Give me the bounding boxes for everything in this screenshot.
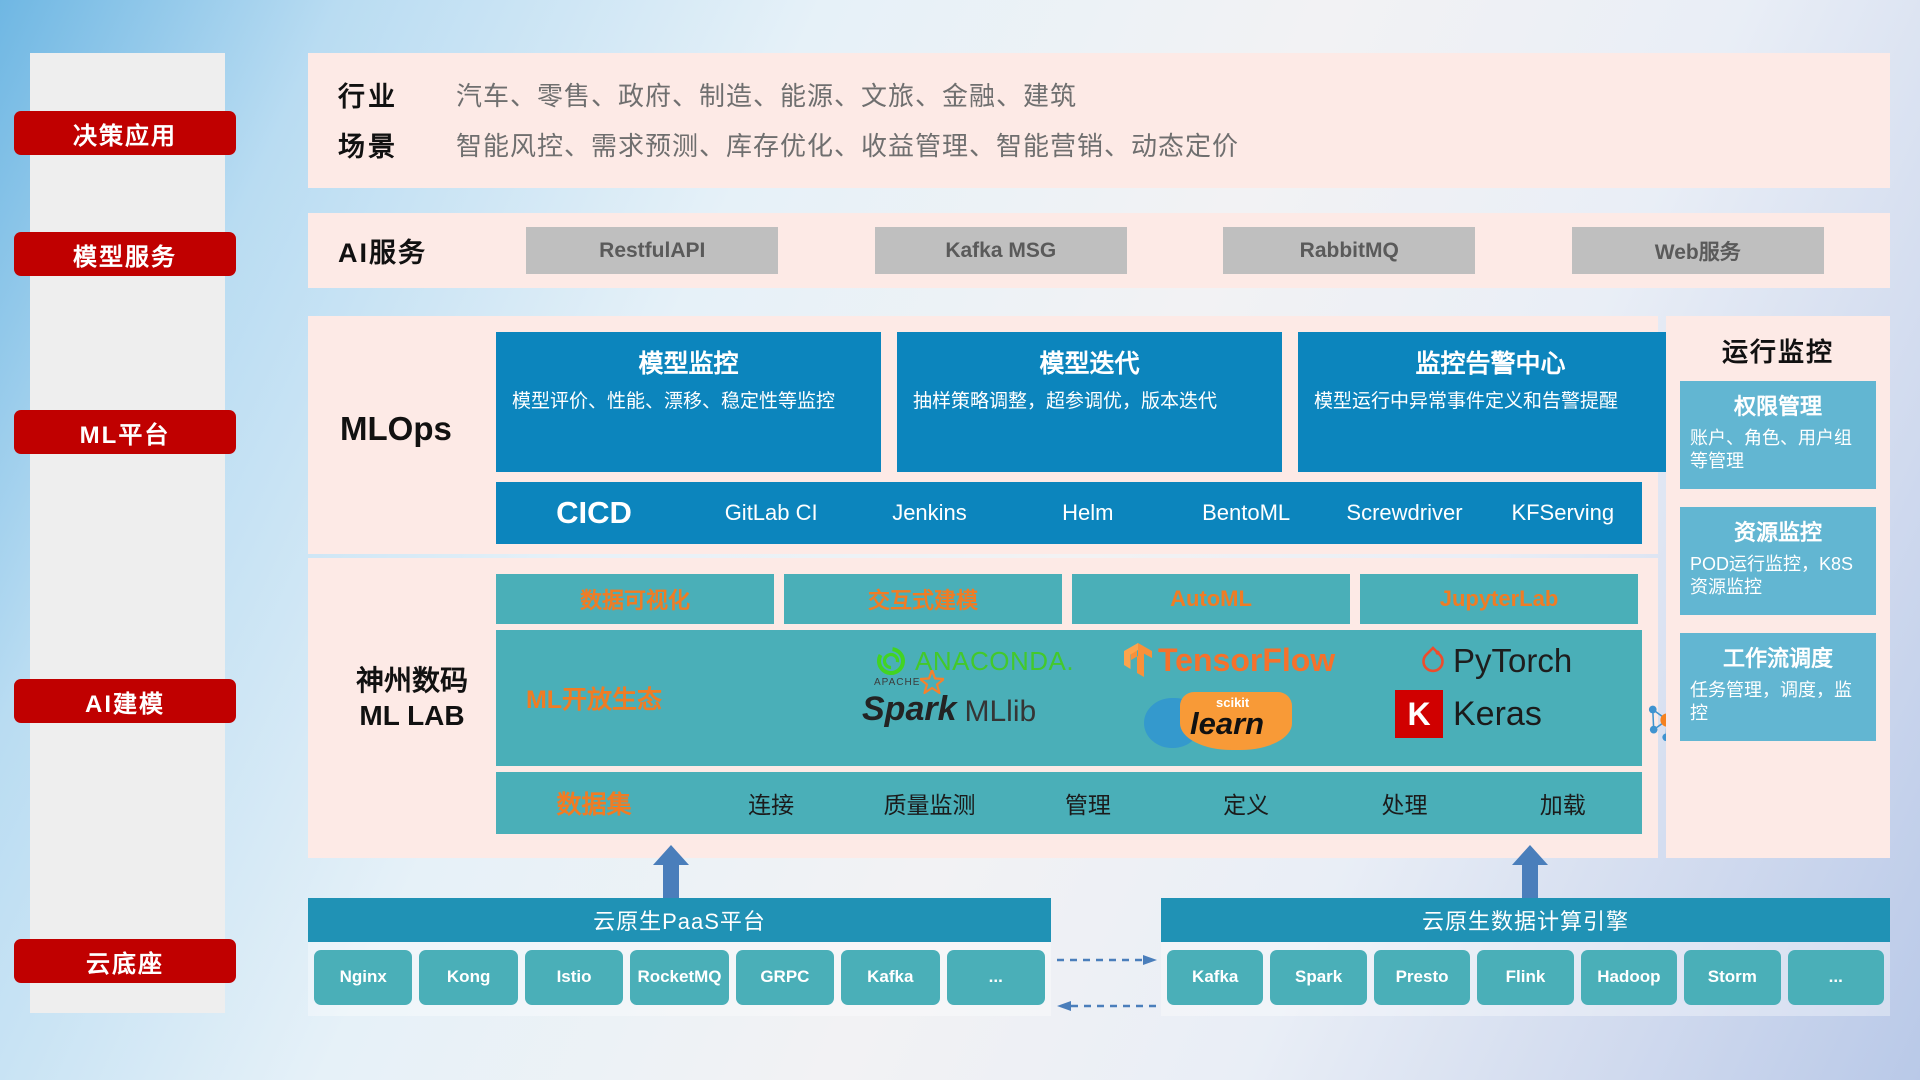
keras-mark-letter: K — [1407, 696, 1430, 733]
cloud-paas-chip-group: Nginx Kong Istio RocketMQ GRPC Kafka ... — [308, 942, 1051, 1013]
card-desc: POD运行监控，K8S资源监控 — [1690, 553, 1866, 600]
cloud-chip-nginx[interactable]: Nginx — [314, 950, 412, 1005]
mlops-card-model-monitoring[interactable]: 模型监控 模型评价、性能、漂移、稳定性等监控 — [496, 332, 881, 472]
cicd-item-gitlab-ci[interactable]: GitLab CI — [692, 501, 850, 524]
ops-card-permission-management[interactable]: 权限管理 账户、角色、用户组等管理 — [1680, 381, 1876, 489]
tensorflow-wordmark: TensorFlow — [1158, 642, 1335, 679]
pytorch-wordmark: PyTorch — [1453, 642, 1572, 680]
ops-card-workflow-scheduling[interactable]: 工作流调度 任务管理，调度，监控 — [1680, 633, 1876, 741]
scenario-row: 场景 智能风控、需求预测、库存优化、收益管理、智能营销、动态定价 — [338, 119, 1890, 169]
industry-scenario-band: 行业 汽车、零售、政府、制造、能源、文旅、金融、建筑 场景 智能风控、需求预测、… — [308, 53, 1890, 188]
mlops-band: MLOps 模型监控 模型评价、性能、漂移、稳定性等监控 模型迭代 抽样策略调整… — [308, 316, 1658, 554]
ai-service-chip-rabbitmq[interactable]: RabbitMQ — [1223, 227, 1475, 274]
card-desc: 模型运行中异常事件定义和告警提醒 — [1314, 389, 1667, 415]
mlops-card-alert-center[interactable]: 监控告警中心 模型运行中异常事件定义和告警提醒 — [1298, 332, 1683, 472]
scenario-values: 智能风控、需求预测、库存优化、收益管理、智能营销、动态定价 — [456, 126, 1239, 163]
ml-lab-band: 神州数码 ML LAB 数据可视化 交互式建模 AutoML JupyterLa… — [308, 558, 1658, 858]
dataset-item-definition[interactable]: 定义 — [1167, 786, 1325, 820]
dataset-item-connect[interactable]: 连接 — [692, 786, 850, 820]
left-arrow-icon — [1057, 1000, 1157, 1012]
cloud-chip-storm[interactable]: Storm — [1684, 950, 1780, 1005]
dataset-item-quality-monitoring[interactable]: 质量监测 — [850, 786, 1008, 820]
dataset-item-group: 连接 质量监测 管理 定义 处理 加载 — [692, 786, 1642, 820]
cloud-data-engine-block: 云原生数据计算引擎 Kafka Spark Presto Flink Hadoo… — [1161, 898, 1890, 1016]
rail-item-label: 决策应用 — [73, 116, 177, 151]
industry-label: 行业 — [338, 75, 456, 114]
right-arrow-icon — [1057, 954, 1157, 966]
card-title: 监控告警中心 — [1314, 344, 1667, 380]
mllib-wordmark: MLlib — [965, 695, 1037, 729]
rail-item-label: 云底座 — [86, 944, 164, 979]
card-title: 模型监控 — [512, 344, 865, 380]
ml-lab-label-line1: 神州数码 — [328, 663, 496, 698]
keras-wordmark: Keras — [1453, 695, 1542, 734]
ops-monitoring-panel: 运行监控 权限管理 账户、角色、用户组等管理 资源监控 POD运行监控，K8S资… — [1666, 316, 1890, 858]
dataset-row: 数据集 连接 质量监测 管理 定义 处理 加载 — [496, 772, 1642, 834]
cloud-chip-rocketmq[interactable]: RocketMQ — [630, 950, 728, 1005]
tensorflow-logo: TensorFlow — [1122, 641, 1335, 679]
pytorch-mark-icon — [1419, 645, 1447, 677]
cloud-paas-block: 云原生PaaS平台 Nginx Kong Istio RocketMQ GRPC… — [308, 898, 1051, 1016]
ops-card-resource-monitoring[interactable]: 资源监控 POD运行监控，K8S资源监控 — [1680, 507, 1876, 615]
cicd-item-bentoml[interactable]: BentoML — [1167, 501, 1325, 524]
spark-apache-text: APACHE — [874, 677, 920, 688]
cloud-chip-kafka[interactable]: Kafka — [841, 950, 939, 1005]
cicd-item-group: GitLab CI Jenkins Helm BentoML Screwdriv… — [692, 501, 1642, 524]
cicd-bar: CICD GitLab CI Jenkins Helm BentoML Scre… — [496, 482, 1642, 544]
spark-star-icon — [920, 670, 944, 694]
ai-service-chip-kafka-msg[interactable]: Kafka MSG — [875, 227, 1127, 274]
ml-lab-tab-jupyterlab[interactable]: JupyterLab — [1360, 574, 1638, 624]
cicd-item-helm[interactable]: Helm — [1009, 501, 1167, 524]
ai-service-chips: RestfulAPI Kafka MSG RabbitMQ Web服务 — [478, 227, 1890, 274]
ai-service-chip-restfulapi[interactable]: RestfulAPI — [526, 227, 778, 274]
rail-item-label: ML平台 — [80, 415, 171, 450]
ai-service-band: AI服务 RestfulAPI Kafka MSG RabbitMQ Web服务 — [308, 213, 1890, 288]
rail-item-label: 模型服务 — [73, 237, 177, 272]
left-rail — [30, 53, 225, 1013]
cloud-chip-kafka[interactable]: Kafka — [1167, 950, 1263, 1005]
tensorflow-mark-icon — [1122, 641, 1154, 679]
cloud-chip-istio[interactable]: Istio — [525, 950, 623, 1005]
ml-lab-label-line2: ML LAB — [328, 698, 496, 733]
keras-mark-icon: K — [1395, 690, 1443, 738]
industry-values: 汽车、零售、政府、制造、能源、文旅、金融、建筑 — [456, 76, 1077, 113]
ml-open-ecosystem-row: ML开放生态 ANACONDA. TensorFlow — [496, 630, 1642, 766]
dataset-item-loading[interactable]: 加载 — [1484, 786, 1642, 820]
card-title: 资源监控 — [1690, 515, 1866, 547]
learn-text: learn — [1190, 706, 1264, 742]
spark-mark: APACHE Spark — [862, 690, 957, 729]
industry-row: 行业 汽车、零售、政府、制造、能源、文旅、金融、建筑 — [338, 69, 1890, 119]
cicd-item-jenkins[interactable]: Jenkins — [850, 501, 1008, 524]
ai-service-chip-web-service[interactable]: Web服务 — [1572, 227, 1824, 274]
anaconda-logo: ANACONDA. — [874, 644, 1074, 678]
dataset-item-processing[interactable]: 处理 — [1325, 786, 1483, 820]
cloud-chip-presto[interactable]: Presto — [1374, 950, 1470, 1005]
ml-lab-tab-interactive-modeling[interactable]: 交互式建模 — [784, 574, 1062, 624]
cloud-chip-hadoop[interactable]: Hadoop — [1581, 950, 1677, 1005]
cloud-paas-title: 云原生PaaS平台 — [308, 898, 1051, 942]
cloud-chip-spark[interactable]: Spark — [1270, 950, 1366, 1005]
up-arrow-left-icon — [651, 845, 691, 899]
card-title: 模型迭代 — [913, 344, 1266, 380]
cicd-item-screwdriver[interactable]: Screwdriver — [1325, 501, 1483, 524]
cloud-chip-more[interactable]: ... — [1788, 950, 1884, 1005]
spark-wordmark: Spark — [862, 690, 957, 728]
spark-mllib-logo: APACHE Spark MLlib — [862, 690, 1036, 729]
scikit-learn-logo: scikit learn — [1144, 692, 1314, 750]
cloud-chip-flink[interactable]: Flink — [1477, 950, 1573, 1005]
cicd-title: CICD — [496, 495, 692, 531]
card-desc: 模型评价、性能、漂移、稳定性等监控 — [512, 389, 865, 415]
ml-lab-tab-group: 数据可视化 交互式建模 AutoML JupyterLab — [496, 574, 1638, 624]
keras-logo: K Keras — [1395, 690, 1542, 738]
ecosystem-logo-group: ANACONDA. TensorFlow PyTorch — [692, 630, 1642, 766]
rail-item-decision-app[interactable]: 决策应用 — [14, 111, 236, 155]
ml-lab-tab-automl[interactable]: AutoML — [1072, 574, 1350, 624]
rail-item-label: AI建模 — [85, 684, 165, 719]
rail-item-ml-platform[interactable]: ML平台 — [14, 410, 236, 454]
mlops-label: MLOps — [340, 410, 452, 448]
up-arrow-right-icon — [1510, 845, 1550, 899]
pytorch-logo: PyTorch — [1419, 642, 1572, 680]
cloud-data-engine-title: 云原生数据计算引擎 — [1161, 898, 1890, 942]
cloud-chip-more[interactable]: ... — [947, 950, 1045, 1005]
dataset-label: 数据集 — [496, 785, 692, 821]
card-desc: 账户、角色、用户组等管理 — [1690, 427, 1866, 474]
rail-item-ai-modeling[interactable]: AI建模 — [14, 679, 236, 723]
cloud-data-engine-chip-group: Kafka Spark Presto Flink Hadoop Storm ..… — [1161, 942, 1890, 1013]
mlops-card-model-iteration[interactable]: 模型迭代 抽样策略调整，超参调优，版本迭代 — [897, 332, 1282, 472]
card-desc: 抽样策略调整，超参调优，版本迭代 — [913, 389, 1266, 415]
cicd-item-kfserving[interactable]: KFServing — [1484, 501, 1642, 524]
ai-service-label: AI服务 — [338, 231, 478, 270]
ops-panel-title: 运行监控 — [1666, 316, 1890, 381]
card-title: 工作流调度 — [1690, 641, 1866, 673]
scenario-label: 场景 — [338, 125, 456, 164]
rail-item-model-service[interactable]: 模型服务 — [14, 232, 236, 276]
card-title: 权限管理 — [1690, 389, 1866, 421]
ml-open-ecosystem-label: ML开放生态 — [496, 680, 692, 716]
dataset-item-management[interactable]: 管理 — [1009, 786, 1167, 820]
card-desc: 任务管理，调度，监控 — [1690, 679, 1866, 726]
anaconda-mark-icon — [874, 644, 908, 678]
cloud-chip-kong[interactable]: Kong — [419, 950, 517, 1005]
mlops-card-group: 模型监控 模型评价、性能、漂移、稳定性等监控 模型迭代 抽样策略调整，超参调优，… — [496, 332, 1683, 472]
ml-lab-tab-data-visualization[interactable]: 数据可视化 — [496, 574, 774, 624]
rail-item-cloud-base[interactable]: 云底座 — [14, 939, 236, 983]
ml-lab-label: 神州数码 ML LAB — [328, 663, 496, 733]
cloud-chip-grpc[interactable]: GRPC — [736, 950, 834, 1005]
